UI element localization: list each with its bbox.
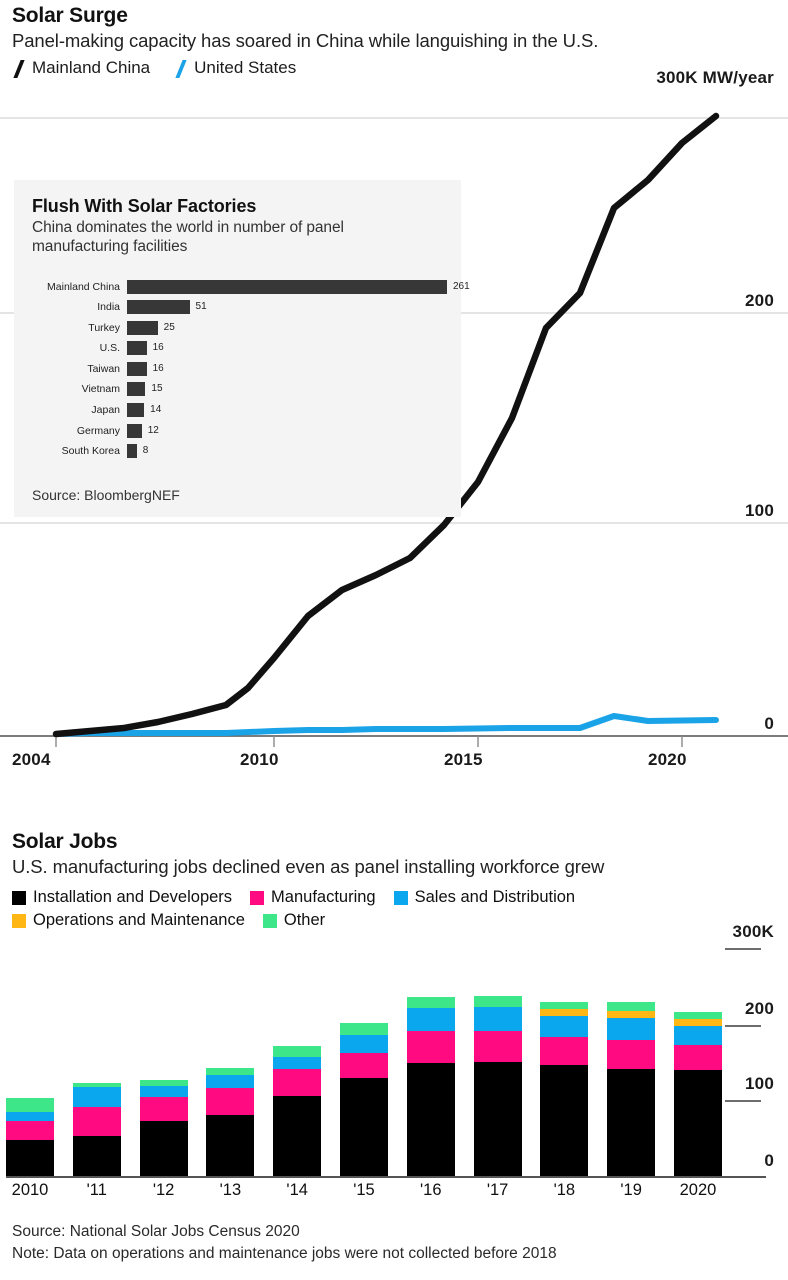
jobs-bar-segment bbox=[273, 1096, 321, 1176]
yaxis-label-200: 200 bbox=[694, 291, 774, 311]
legend-chip-installation: Installation and Developers bbox=[12, 886, 232, 909]
surge-legend: Mainland China United States bbox=[12, 58, 296, 78]
jobs-ytick-100 bbox=[725, 1100, 761, 1102]
inset-bar-value: 261 bbox=[453, 281, 470, 292]
jobs-bar-stack bbox=[73, 1083, 121, 1176]
jobs-bar-segment bbox=[340, 1078, 388, 1176]
jobs-bar-segment bbox=[340, 1053, 388, 1078]
jobs-xaxis-label: 2010 bbox=[6, 1181, 54, 1200]
jobs-xaxis-labels: 2010'11'12'13'14'15'16'17'18'192020 bbox=[6, 1181, 722, 1200]
inset-bar-label: Japan bbox=[32, 404, 127, 416]
yaxis-label-300k: 300K MW/year bbox=[604, 68, 774, 88]
legend-label: Sales and Distribution bbox=[415, 886, 576, 909]
legend-label: Installation and Developers bbox=[33, 886, 232, 909]
jobs-source: Source: National Solar Jobs Census 2020 bbox=[12, 1221, 557, 1243]
inset-bar-fill bbox=[127, 341, 147, 355]
jobs-bar-segment bbox=[340, 1023, 388, 1035]
legend-chip-manufacturing: Manufacturing bbox=[250, 886, 376, 909]
jobs-xaxis-label: '14 bbox=[273, 1181, 321, 1200]
jobs-bar-segment bbox=[540, 1037, 588, 1065]
jobs-bar-segment bbox=[73, 1107, 121, 1137]
jobs-bar-segment bbox=[140, 1097, 188, 1121]
inset-bar-row: U.S.16 bbox=[32, 340, 452, 357]
jobs-bar-segment bbox=[474, 1007, 522, 1030]
yaxis-label-100: 100 bbox=[694, 501, 774, 521]
jobs-bar-segment bbox=[6, 1098, 54, 1112]
jobs-bar-segment bbox=[273, 1057, 321, 1069]
xaxis-label-2015: 2015 bbox=[444, 750, 514, 770]
inset-bar-fill bbox=[127, 382, 145, 396]
inset-bar-fill bbox=[127, 280, 447, 294]
jobs-bar-stack bbox=[340, 1023, 388, 1176]
jobs-bar-segment bbox=[607, 1040, 655, 1068]
color-swatch-icon bbox=[263, 914, 277, 928]
inset-bar-track: 15 bbox=[127, 382, 452, 396]
inset-factories-card: Flush With Solar Factories China dominat… bbox=[14, 180, 461, 517]
legend-item-united-states: United States bbox=[174, 58, 296, 78]
inset-bar-fill bbox=[127, 362, 147, 376]
jobs-bar-segment bbox=[674, 1026, 722, 1044]
inset-bar-fill bbox=[127, 444, 137, 458]
jobs-bar-segment bbox=[6, 1121, 54, 1141]
jobs-bars-container bbox=[6, 928, 722, 1176]
jobs-bar-stack bbox=[140, 1080, 188, 1176]
jobs-bar-segment bbox=[407, 1063, 455, 1176]
jobs-bar-segment bbox=[474, 996, 522, 1008]
inset-bar-row: Vietnam15 bbox=[32, 381, 452, 398]
jobs-yaxis-300k: 300K bbox=[733, 922, 774, 942]
jobs-bar-segment bbox=[674, 1012, 722, 1019]
jobs-yaxis-200: 200 bbox=[745, 999, 774, 1019]
inset-bar-value: 15 bbox=[151, 383, 162, 394]
inset-source: Source: BloombergNEF bbox=[32, 487, 180, 503]
jobs-bar-segment bbox=[140, 1121, 188, 1176]
inset-bar-track: 51 bbox=[127, 300, 452, 314]
xaxis-label-2010: 2010 bbox=[240, 750, 310, 770]
jobs-note: Note: Data on operations and maintenance… bbox=[12, 1243, 557, 1265]
legend-label: Mainland China bbox=[32, 58, 150, 78]
jobs-bar-segment bbox=[206, 1068, 254, 1075]
color-swatch-icon bbox=[250, 891, 264, 905]
jobs-bar-segment bbox=[607, 1018, 655, 1040]
legend-item-mainland-china: Mainland China bbox=[12, 58, 150, 78]
jobs-bar-segment bbox=[540, 1009, 588, 1016]
jobs-bar-stack bbox=[273, 1046, 321, 1176]
inset-bar-fill bbox=[127, 424, 142, 438]
jobs-bar-stack bbox=[6, 1098, 54, 1176]
color-swatch-icon bbox=[12, 914, 26, 928]
jobs-bar-segment bbox=[407, 997, 455, 1009]
inset-bar-row: South Korea8 bbox=[32, 443, 452, 460]
inset-bar-label: Germany bbox=[32, 425, 127, 437]
jobs-bar-segment bbox=[674, 1045, 722, 1071]
jobs-bar-segment bbox=[140, 1086, 188, 1097]
inset-bar-row: Japan14 bbox=[32, 402, 452, 419]
inset-bar-value: 51 bbox=[196, 301, 207, 312]
jobs-bar-stack bbox=[540, 1002, 588, 1176]
inset-bar-label: India bbox=[32, 301, 127, 313]
inset-bar-value: 25 bbox=[164, 322, 175, 333]
jobs-bar-segment bbox=[273, 1046, 321, 1057]
inset-bar-track: 16 bbox=[127, 362, 452, 376]
inset-title: Flush With Solar Factories bbox=[32, 196, 443, 217]
inset-bar-label: U.S. bbox=[32, 342, 127, 354]
jobs-xaxis-label: 2020 bbox=[674, 1181, 722, 1200]
inset-bar-row: India51 bbox=[32, 299, 452, 316]
jobs-yaxis-100: 100 bbox=[745, 1074, 774, 1094]
jobs-bar-segment bbox=[540, 1002, 588, 1009]
inset-bar-value: 16 bbox=[153, 342, 164, 353]
jobs-subtitle: U.S. manufacturing jobs declined even as… bbox=[12, 856, 604, 878]
jobs-bar-segment bbox=[6, 1112, 54, 1120]
inset-bar-label: Taiwan bbox=[32, 363, 127, 375]
jobs-bar-segment bbox=[607, 1002, 655, 1011]
inset-bar-track: 16 bbox=[127, 341, 452, 355]
jobs-bar-segment bbox=[6, 1140, 54, 1176]
inset-bar-value: 16 bbox=[153, 363, 164, 374]
inset-bar-track: 25 bbox=[127, 321, 452, 335]
slash-icon bbox=[174, 60, 187, 77]
jobs-plot-area: 300K 200 100 0 bbox=[0, 928, 788, 1176]
color-swatch-icon bbox=[394, 891, 408, 905]
jobs-legend-row-1: Installation and Developers Manufacturin… bbox=[12, 886, 772, 909]
jobs-xaxis-label: '12 bbox=[140, 1181, 188, 1200]
jobs-bar-segment bbox=[206, 1088, 254, 1114]
legend-label: Manufacturing bbox=[271, 886, 376, 909]
jobs-bar-segment bbox=[540, 1016, 588, 1037]
jobs-bar-segment bbox=[474, 1031, 522, 1062]
inset-bar-row: Mainland China261 bbox=[32, 278, 452, 295]
inset-bar-value: 8 bbox=[143, 445, 149, 456]
legend-label: United States bbox=[194, 58, 296, 78]
xaxis-label-2004: 2004 bbox=[12, 750, 82, 770]
slash-icon bbox=[12, 60, 25, 77]
inset-bar-fill bbox=[127, 300, 190, 314]
jobs-bar-segment bbox=[273, 1069, 321, 1095]
inset-bar-value: 12 bbox=[148, 425, 159, 436]
inset-bar-row: Turkey25 bbox=[32, 319, 452, 336]
jobs-bar-segment bbox=[206, 1115, 254, 1176]
jobs-xaxis-label: '15 bbox=[340, 1181, 388, 1200]
color-swatch-icon bbox=[12, 891, 26, 905]
legend-chip-sales: Sales and Distribution bbox=[394, 886, 576, 909]
inset-bar-list: Mainland China261India51Turkey25U.S.16Ta… bbox=[32, 278, 452, 463]
solar-jobs-chart: Solar Jobs U.S. manufacturing jobs decli… bbox=[0, 828, 788, 1280]
jobs-xaxis-label: '19 bbox=[607, 1181, 655, 1200]
inset-bar-label: South Korea bbox=[32, 445, 127, 457]
jobs-bar-segment bbox=[674, 1019, 722, 1026]
jobs-bar-segment bbox=[73, 1136, 121, 1176]
jobs-ytick-200 bbox=[725, 1025, 761, 1027]
jobs-yaxis-0: 0 bbox=[764, 1151, 774, 1171]
jobs-legend: Installation and Developers Manufacturin… bbox=[12, 886, 772, 933]
jobs-xaxis-label: '16 bbox=[407, 1181, 455, 1200]
inset-bar-label: Turkey bbox=[32, 322, 127, 334]
inset-bar-row: Taiwan16 bbox=[32, 360, 452, 377]
jobs-bar-segment bbox=[607, 1069, 655, 1176]
inset-bar-track: 8 bbox=[127, 444, 452, 458]
yaxis-label-0: 0 bbox=[694, 714, 774, 734]
jobs-bar-segment bbox=[206, 1075, 254, 1088]
jobs-title: Solar Jobs bbox=[12, 830, 117, 854]
jobs-bar-segment bbox=[540, 1065, 588, 1176]
jobs-xaxis-label: '13 bbox=[206, 1181, 254, 1200]
inset-bar-row: Germany12 bbox=[32, 422, 452, 439]
inset-bar-label: Vietnam bbox=[32, 383, 127, 395]
inset-bar-value: 14 bbox=[150, 404, 161, 415]
inset-subtitle: China dominates the world in number of p… bbox=[32, 219, 443, 257]
jobs-bar-segment bbox=[407, 1008, 455, 1031]
inset-bar-fill bbox=[127, 403, 144, 417]
jobs-bar-segment bbox=[474, 1062, 522, 1176]
jobs-ytick-300 bbox=[725, 948, 761, 950]
jobs-bar-segment bbox=[607, 1011, 655, 1018]
inset-bar-fill bbox=[127, 321, 158, 335]
inset-bar-track: 12 bbox=[127, 424, 452, 438]
jobs-bar-segment bbox=[407, 1031, 455, 1062]
jobs-bar-stack bbox=[674, 1012, 722, 1176]
xaxis-label-2020: 2020 bbox=[648, 750, 718, 770]
jobs-bar-segment bbox=[340, 1035, 388, 1053]
jobs-bar-segment bbox=[73, 1087, 121, 1107]
inset-bar-track: 14 bbox=[127, 403, 452, 417]
jobs-axis-baseline bbox=[6, 1176, 766, 1178]
solar-surge-chart: Solar Surge Panel-making capacity has so… bbox=[0, 0, 788, 800]
inset-bar-track: 261 bbox=[127, 280, 452, 294]
jobs-xaxis-label: '18 bbox=[540, 1181, 588, 1200]
jobs-bar-stack bbox=[206, 1068, 254, 1176]
jobs-footnotes: Source: National Solar Jobs Census 2020 … bbox=[12, 1221, 557, 1266]
jobs-xaxis-label: '17 bbox=[474, 1181, 522, 1200]
jobs-xaxis-label: '11 bbox=[73, 1181, 121, 1200]
jobs-bar-segment bbox=[674, 1070, 722, 1176]
jobs-bar-stack bbox=[407, 997, 455, 1176]
surge-subtitle: Panel-making capacity has soared in Chin… bbox=[12, 30, 598, 52]
surge-title: Solar Surge bbox=[12, 4, 128, 28]
jobs-bar-stack bbox=[607, 1002, 655, 1176]
inset-bar-label: Mainland China bbox=[32, 281, 127, 293]
jobs-bar-stack bbox=[474, 996, 522, 1176]
